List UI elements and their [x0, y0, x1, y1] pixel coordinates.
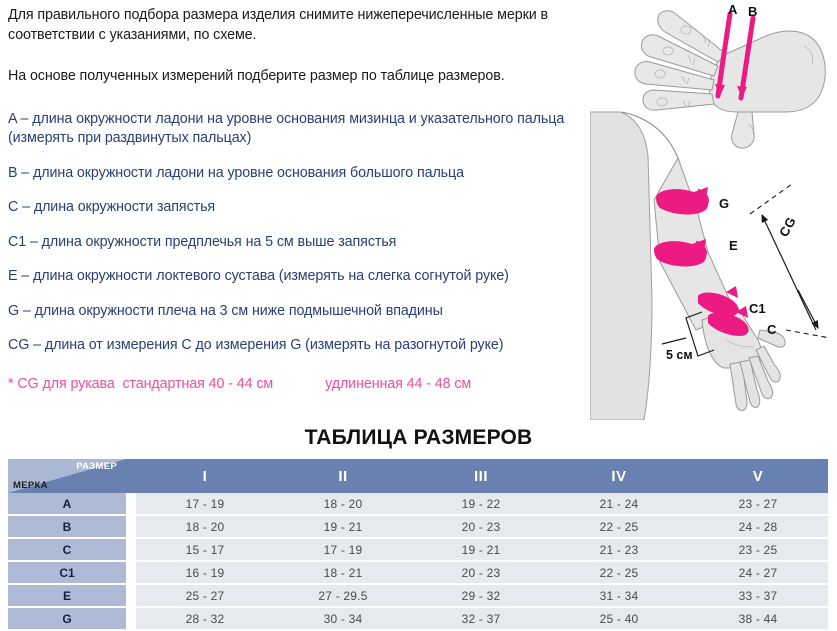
column-header-i[interactable]: I: [136, 459, 274, 493]
cell-c-iv: 21 - 23: [550, 538, 688, 561]
cell-a-ii: 18 - 20: [274, 493, 412, 515]
size-table-header: РАЗМЕР МЕРКА I II III IV V: [8, 459, 828, 493]
measurement-diagram: A B G E C1 C CG 5 см: [590, 0, 837, 420]
table-row: G 28 - 32 30 - 34 32 - 37 25 - 40 38 - 4…: [8, 607, 828, 630]
measurement-definition-cg: CG – длина от измерения C до измерения G…: [8, 336, 584, 356]
row-spacer: [126, 584, 136, 607]
cell-g-iii: 32 - 37: [412, 607, 550, 630]
cg-sleeve-note: * CG для рукава стандартная 40 - 44 см у…: [8, 376, 584, 392]
cell-c1-iv: 22 - 25: [550, 561, 688, 584]
measurement-definition-c: C – длина окружности запястья: [8, 198, 584, 218]
row-label-a: A: [8, 493, 126, 515]
row-spacer: [126, 607, 136, 630]
row-spacer: [126, 515, 136, 538]
cell-c-v: 23 - 25: [688, 538, 828, 561]
cell-g-v: 38 - 44: [688, 607, 828, 630]
cell-a-i: 17 - 19: [136, 493, 274, 515]
table-row: B 18 - 20 19 - 21 20 - 23 22 - 25 24 - 2…: [8, 515, 828, 538]
cell-b-iv: 22 - 25: [550, 515, 688, 538]
column-header-iv[interactable]: IV: [550, 459, 688, 493]
measurement-definition-c1: C1 – длина окружности предплечья на 5 см…: [8, 233, 584, 253]
table-header-row: РАЗМЕР МЕРКА I II III IV V: [8, 459, 828, 493]
table-row: C1 16 - 19 18 - 21 20 - 23 22 - 25 24 - …: [8, 561, 828, 584]
cell-e-i: 25 - 27: [136, 584, 274, 607]
measurement-definition-a: A – длина окружности ладони на уровне ос…: [8, 110, 584, 149]
diagram-svg: [590, 0, 837, 420]
diagram-label-a: A: [728, 2, 737, 17]
cell-g-i: 28 - 32: [136, 607, 274, 630]
measurement-definition-b: B – длина окружности ладони на уровне ос…: [8, 164, 584, 184]
cell-c-iii: 19 - 21: [412, 538, 550, 561]
row-label-c: C: [8, 538, 126, 561]
corner-size-label: РАЗМЕР: [76, 461, 117, 472]
intro-paragraph-2: На основе полученных измерений подберите…: [8, 67, 584, 87]
cell-g-iv: 25 - 40: [550, 607, 688, 630]
cell-e-iv: 31 - 34: [550, 584, 688, 607]
cell-a-iv: 21 - 24: [550, 493, 688, 515]
diagram-label-e: E: [729, 238, 738, 253]
row-label-b: B: [8, 515, 126, 538]
diagram-label-5cm: 5 см: [666, 348, 693, 362]
header-spacer: [126, 459, 136, 493]
cell-g-ii: 30 - 34: [274, 607, 412, 630]
cell-c1-v: 24 - 27: [688, 561, 828, 584]
size-table-body: A 17 - 19 18 - 20 19 - 22 21 - 24 23 - 2…: [8, 493, 828, 630]
hand-illustration: [635, 11, 825, 148]
cell-e-v: 33 - 37: [688, 584, 828, 607]
cell-b-iii: 20 - 23: [412, 515, 550, 538]
corner-measure-label: МЕРКА: [13, 480, 48, 491]
table-row: E 25 - 27 27 - 29.5 29 - 32 31 - 34 33 -…: [8, 584, 828, 607]
row-label-c1: C1: [8, 561, 126, 584]
cell-c1-i: 16 - 19: [136, 561, 274, 584]
diagram-label-g: G: [719, 196, 729, 211]
row-spacer: [126, 538, 136, 561]
cell-a-v: 23 - 27: [688, 493, 828, 515]
measurement-definition-g: G – длина окружности плеча на 3 см ниже …: [8, 302, 584, 322]
cell-c1-ii: 18 - 21: [274, 561, 412, 584]
column-header-ii[interactable]: II: [274, 459, 412, 493]
column-header-iii[interactable]: III: [412, 459, 550, 493]
diagram-label-c: C: [767, 322, 776, 337]
row-label-e: E: [8, 584, 126, 607]
cg-note-standard: * CG для рукава стандартная 40 - 44 см: [8, 376, 273, 392]
cell-e-ii: 27 - 29.5: [274, 584, 412, 607]
cell-c1-iii: 20 - 23: [412, 561, 550, 584]
size-table-title: ТАБЛИЦА РАЗМЕРОВ: [0, 426, 837, 450]
intro-paragraph-1: Для правильного подбора размера изделия …: [8, 6, 584, 45]
table-row: C 15 - 17 17 - 19 19 - 21 21 - 23 23 - 2…: [8, 538, 828, 561]
cg-note-extended: удлиненная 44 - 48 см: [325, 376, 471, 392]
row-spacer: [126, 561, 136, 584]
row-spacer: [126, 493, 136, 515]
diagram-label-b: B: [748, 4, 757, 19]
measurement-definition-e: E – длина окружности локтевого сустава (…: [8, 267, 584, 287]
instructions-column: Для правильного подбора размера изделия …: [8, 6, 584, 392]
table-row: A 17 - 19 18 - 20 19 - 22 21 - 24 23 - 2…: [8, 493, 828, 515]
cell-c-i: 15 - 17: [136, 538, 274, 561]
size-table: РАЗМЕР МЕРКА I II III IV V A 17 - 19 18 …: [8, 459, 828, 631]
table-corner-cell: РАЗМЕР МЕРКА: [8, 459, 126, 493]
cell-a-iii: 19 - 22: [412, 493, 550, 515]
cell-b-ii: 19 - 21: [274, 515, 412, 538]
measurement-definitions-list: A – длина окружности ладони на уровне ос…: [8, 110, 584, 356]
cell-b-v: 24 - 28: [688, 515, 828, 538]
cell-b-i: 18 - 20: [136, 515, 274, 538]
column-header-v[interactable]: V: [688, 459, 828, 493]
arm-illustration: [590, 112, 830, 420]
cell-e-iii: 29 - 32: [412, 584, 550, 607]
cell-c-ii: 17 - 19: [274, 538, 412, 561]
size-guide-page: Для правильного подбора размера изделия …: [0, 0, 837, 616]
row-label-g: G: [8, 607, 126, 630]
diagram-label-c1: C1: [749, 301, 766, 316]
